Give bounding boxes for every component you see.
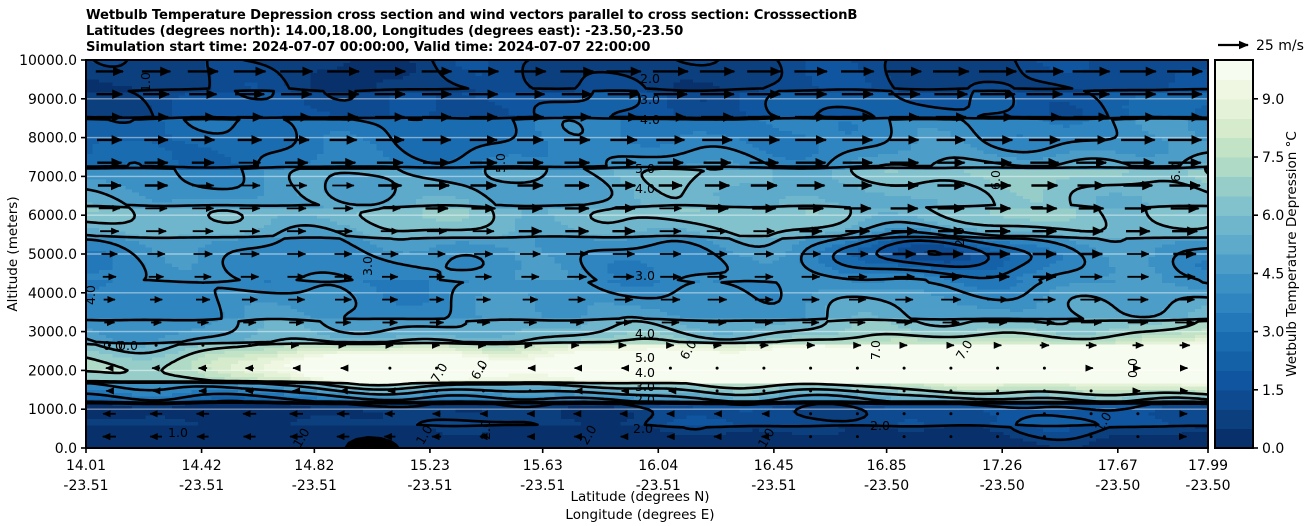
y-tick-label: 10000.0 — [19, 53, 77, 69]
contour-label: 3.0 — [635, 268, 655, 283]
contour-label: 7.0 — [868, 340, 883, 360]
x-tick-label: 15.63 — [523, 458, 563, 474]
y-tick-label: 8000.0 — [28, 131, 77, 147]
x-tick-label-longitude: -23.50 — [864, 478, 909, 494]
colorbar-label: Wetbulb Temperature Depression °C — [1284, 131, 1300, 377]
y-tick-label: 2000.0 — [28, 363, 77, 379]
y-tick-label: 5000.0 — [28, 247, 77, 263]
colorbar-tick-label: 1.5 — [1262, 383, 1284, 399]
contour-label: 2.0 — [870, 418, 890, 433]
colorbar-tick-label: 3.0 — [1262, 325, 1284, 341]
y-axis: 0.01000.02000.03000.04000.05000.06000.07… — [19, 53, 86, 457]
contour-label: 6.0 — [1168, 162, 1183, 182]
x-tick-label: 15.23 — [410, 458, 450, 474]
cross-section-figure: 1.02.03.04.05.05.04.06.06.04.03.02.03.04… — [0, 0, 1312, 526]
contour-label: 5.0 — [493, 153, 508, 173]
x-tick-label: 17.99 — [1188, 458, 1228, 474]
contour-label: 2.0 — [478, 420, 493, 440]
wind-legend: 25 m/s — [1218, 38, 1304, 54]
x-axis-label-secondary: Longitude (degrees E) — [565, 507, 714, 523]
x-tick-label: 17.67 — [1098, 458, 1138, 474]
x-tick-label-longitude: -23.50 — [1185, 478, 1230, 494]
colorbar-tick-label: 4.5 — [1262, 266, 1284, 282]
x-tick-label-longitude: -23.51 — [751, 478, 796, 494]
contour-label: 4.0 — [635, 365, 655, 380]
chart-page: Wetbulb Temperature Depression cross sec… — [0, 0, 1312, 526]
contour-label: 0.0 — [1125, 358, 1140, 378]
colorbar-tick-label: 6.0 — [1262, 208, 1284, 224]
x-tick-label-longitude: -23.51 — [407, 478, 452, 494]
x-tick-label-longitude: -23.51 — [63, 478, 108, 494]
y-tick-label: 7000.0 — [28, 169, 77, 185]
x-tick-label: 14.42 — [182, 458, 222, 474]
y-tick-label: 0.0 — [55, 441, 77, 457]
x-tick-label-longitude: -23.50 — [980, 478, 1025, 494]
contour-label: 2.0 — [640, 71, 660, 86]
colorbar-tick-label: 9.0 — [1262, 92, 1284, 108]
colorbar: 0.01.53.04.56.07.59.0 — [1215, 60, 1284, 457]
x-axis: 14.01-23.5114.42-23.5114.82-23.5115.23-2… — [63, 448, 1230, 494]
contour-label: 4.0 — [635, 181, 655, 196]
contour-label: 0.0 — [118, 338, 138, 353]
y-tick-label: 4000.0 — [28, 286, 77, 302]
contour-label: 4.0 — [640, 112, 660, 127]
colorbar-tick-label: 7.5 — [1262, 150, 1284, 166]
x-tick-label: 14.82 — [294, 458, 334, 474]
contour-label: 2.0 — [635, 392, 655, 407]
x-tick-label-longitude: -23.51 — [179, 478, 224, 494]
x-tick-label: 14.01 — [66, 458, 106, 474]
contour-label: 2.0 — [633, 421, 653, 436]
contour-label: 3.0 — [640, 92, 660, 107]
contour-label: 3.0 — [360, 256, 375, 276]
x-tick-label: 17.26 — [982, 458, 1022, 474]
x-tick-label: 16.04 — [638, 458, 678, 474]
contour-label: 6.0 — [988, 170, 1003, 190]
y-tick-label: 9000.0 — [28, 92, 77, 108]
x-tick-label-longitude: -23.51 — [520, 478, 565, 494]
contour-label: 5.0 — [635, 161, 655, 176]
contour-label: 1.0 — [168, 425, 188, 440]
x-tick-label-longitude: -23.51 — [292, 478, 337, 494]
contour-label: 5.0 — [635, 350, 655, 365]
x-tick-label: 16.45 — [754, 458, 794, 474]
contour-label: 4.0 — [635, 326, 655, 341]
y-tick-label: 1000.0 — [28, 402, 77, 418]
x-tick-label: 16.85 — [867, 458, 907, 474]
contour-label: 2.0 — [952, 227, 967, 247]
y-axis-label: Altitude (meters) — [5, 196, 21, 311]
wind-legend-label: 25 m/s — [1256, 38, 1304, 54]
colorbar-tick-label: 0.0 — [1262, 441, 1284, 457]
y-tick-label: 6000.0 — [28, 208, 77, 224]
x-axis-label: Latitude (degrees N) — [570, 489, 709, 505]
y-tick-label: 3000.0 — [28, 325, 77, 341]
x-tick-label-longitude: -23.50 — [1095, 478, 1140, 494]
contour-label: 1.0 — [138, 72, 153, 92]
